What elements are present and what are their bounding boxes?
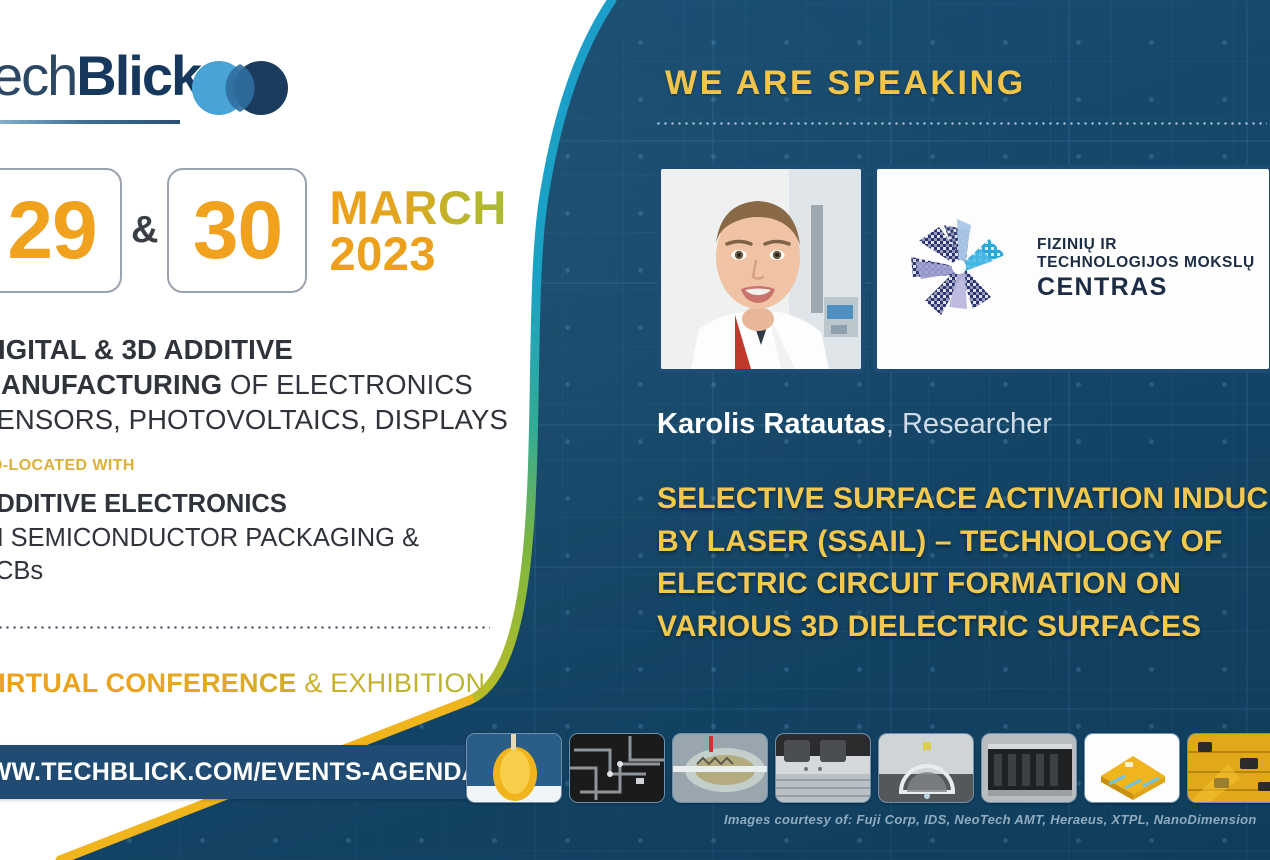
colocated-2-normal: IN SEMICONDUCTOR PACKAGING & — [0, 524, 419, 552]
table-row[interactable] — [775, 733, 871, 803]
ftmc-star-icon — [895, 205, 1023, 333]
table-row[interactable] — [981, 733, 1077, 803]
date-month-year: MARCH 2023 — [329, 185, 506, 275]
logo-circles-icon — [188, 60, 292, 116]
table-row[interactable] — [569, 733, 665, 803]
date-month-value: MARCH — [329, 185, 506, 230]
event-format: VIRTUAL CONFERENCE & EXHIBITION — [0, 668, 485, 699]
logo-underline — [0, 120, 180, 124]
talk-title-line-4: VARIOUS 3D DIELECTRIC SURFACES — [657, 606, 1270, 649]
headline-line-1: DIGITAL & 3D ADDITIVE — [0, 332, 538, 367]
headline-1-bold: DIGITAL & 3D ADDITIVE — [0, 334, 293, 365]
speaker-name: Karolis Ratautas — [657, 408, 886, 440]
right-dotted-divider — [655, 122, 1267, 125]
table-row[interactable] — [1084, 733, 1180, 803]
logo-text-blick: Blick — [76, 44, 200, 107]
headline-2-bold: MANUFACTURING — [0, 369, 222, 400]
talk-title-line-1: SELECTIVE SURFACE ACTIVATION INDUCED — [657, 478, 1270, 521]
speaker-credit: Karolis Ratautas, Researcher — [657, 408, 1052, 441]
talk-title-line-2: BY LASER (SSAIL) – TECHNOLOGY OF — [657, 521, 1270, 564]
colocated-3-normal: PCBs — [0, 557, 43, 585]
colocated-event: ADDITIVE ELECTRONICS IN SEMICONDUCTOR PA… — [0, 488, 538, 589]
avatar — [661, 169, 861, 369]
speaker-cards: FIZINIŲ IR TECHNOLOGIJOS MOKSLŲ CENTRAS — [657, 165, 1270, 373]
date-box-day1: 29 — [0, 168, 122, 293]
left-dotted-divider — [0, 626, 490, 629]
image-courtesy-credit: Images courtesy of: Fuji Corp, IDS, NeoT… — [724, 812, 1257, 827]
date-box-day2: 30 — [167, 168, 307, 293]
org-line-1: FIZINIŲ IR — [1037, 236, 1255, 254]
table-row[interactable] — [466, 733, 562, 803]
speaker-photo-card — [657, 165, 865, 373]
left-info-column: TechBlick 29 & 30 MARCH 2023 DIGITAL & 3… — [0, 0, 600, 860]
event-dates: 29 & 30 MARCH 2023 — [0, 168, 507, 293]
event-headline: DIGITAL & 3D ADDITIVE MANUFACTURING OF E… — [0, 332, 538, 438]
colocated-line-3: PCBs — [0, 555, 538, 589]
colocated-label: CO-LOCATED WITH — [0, 457, 135, 475]
talk-title-line-3: ELECTRIC CIRCUIT FORMATION ON — [657, 563, 1270, 606]
table-row[interactable] — [1187, 733, 1270, 803]
we-are-speaking-heading: WE ARE SPEAKING — [665, 64, 1026, 103]
url-button-label: WWW.TECHBLICK.COM/EVENTS-AGENDA — [0, 758, 480, 787]
colocated-1-bold: ADDITIVE ELECTRONICS — [0, 490, 287, 518]
poster-canvas: TechBlick 29 & 30 MARCH 2023 DIGITAL & 3… — [0, 0, 1270, 860]
date-year-value: 2023 — [329, 231, 506, 276]
headline-line-3: SENSORS, PHOTOVOLTAICS, DISPLAYS — [0, 402, 538, 437]
organization-logo-card: FIZINIŲ IR TECHNOLOGIJOS MOKSLŲ CENTRAS — [873, 165, 1270, 373]
format-bold: VIRTUAL CONFERENCE — [0, 668, 297, 698]
date-ampersand: & — [131, 209, 158, 252]
org-line-3: CENTRAS — [1037, 273, 1255, 303]
organization-name: FIZINIŲ IR TECHNOLOGIJOS MOKSLŲ CENTRAS — [1037, 236, 1255, 302]
headline-3-normal: SENSORS, PHOTOVOLTAICS, DISPLAYS — [0, 404, 508, 435]
headline-line-2: MANUFACTURING OF ELECTRONICS — [0, 367, 538, 402]
headline-2-normal: OF ELECTRONICS — [222, 369, 473, 400]
org-line-2: TECHNOLOGIJOS MOKSLŲ — [1037, 254, 1255, 272]
techblick-logo[interactable]: TechBlick — [0, 48, 296, 128]
events-agenda-url-button[interactable]: WWW.TECHBLICK.COM/EVENTS-AGENDA — [0, 745, 472, 799]
logo-text-tech: Tech — [0, 44, 76, 107]
date-day2-value: 30 — [193, 190, 282, 272]
table-row[interactable] — [878, 733, 974, 803]
colocated-line-1: ADDITIVE ELECTRONICS — [0, 488, 538, 522]
colocated-line-2: IN SEMICONDUCTOR PACKAGING & — [0, 522, 538, 556]
table-row[interactable] — [672, 733, 768, 803]
date-day1-value: 29 — [7, 190, 96, 272]
speaker-role: , Researcher — [886, 408, 1052, 440]
format-normal: & EXHIBITION — [297, 668, 486, 698]
image-thumbnail-strip — [466, 733, 1270, 803]
talk-title: SELECTIVE SURFACE ACTIVATION INDUCED BY … — [657, 478, 1270, 648]
